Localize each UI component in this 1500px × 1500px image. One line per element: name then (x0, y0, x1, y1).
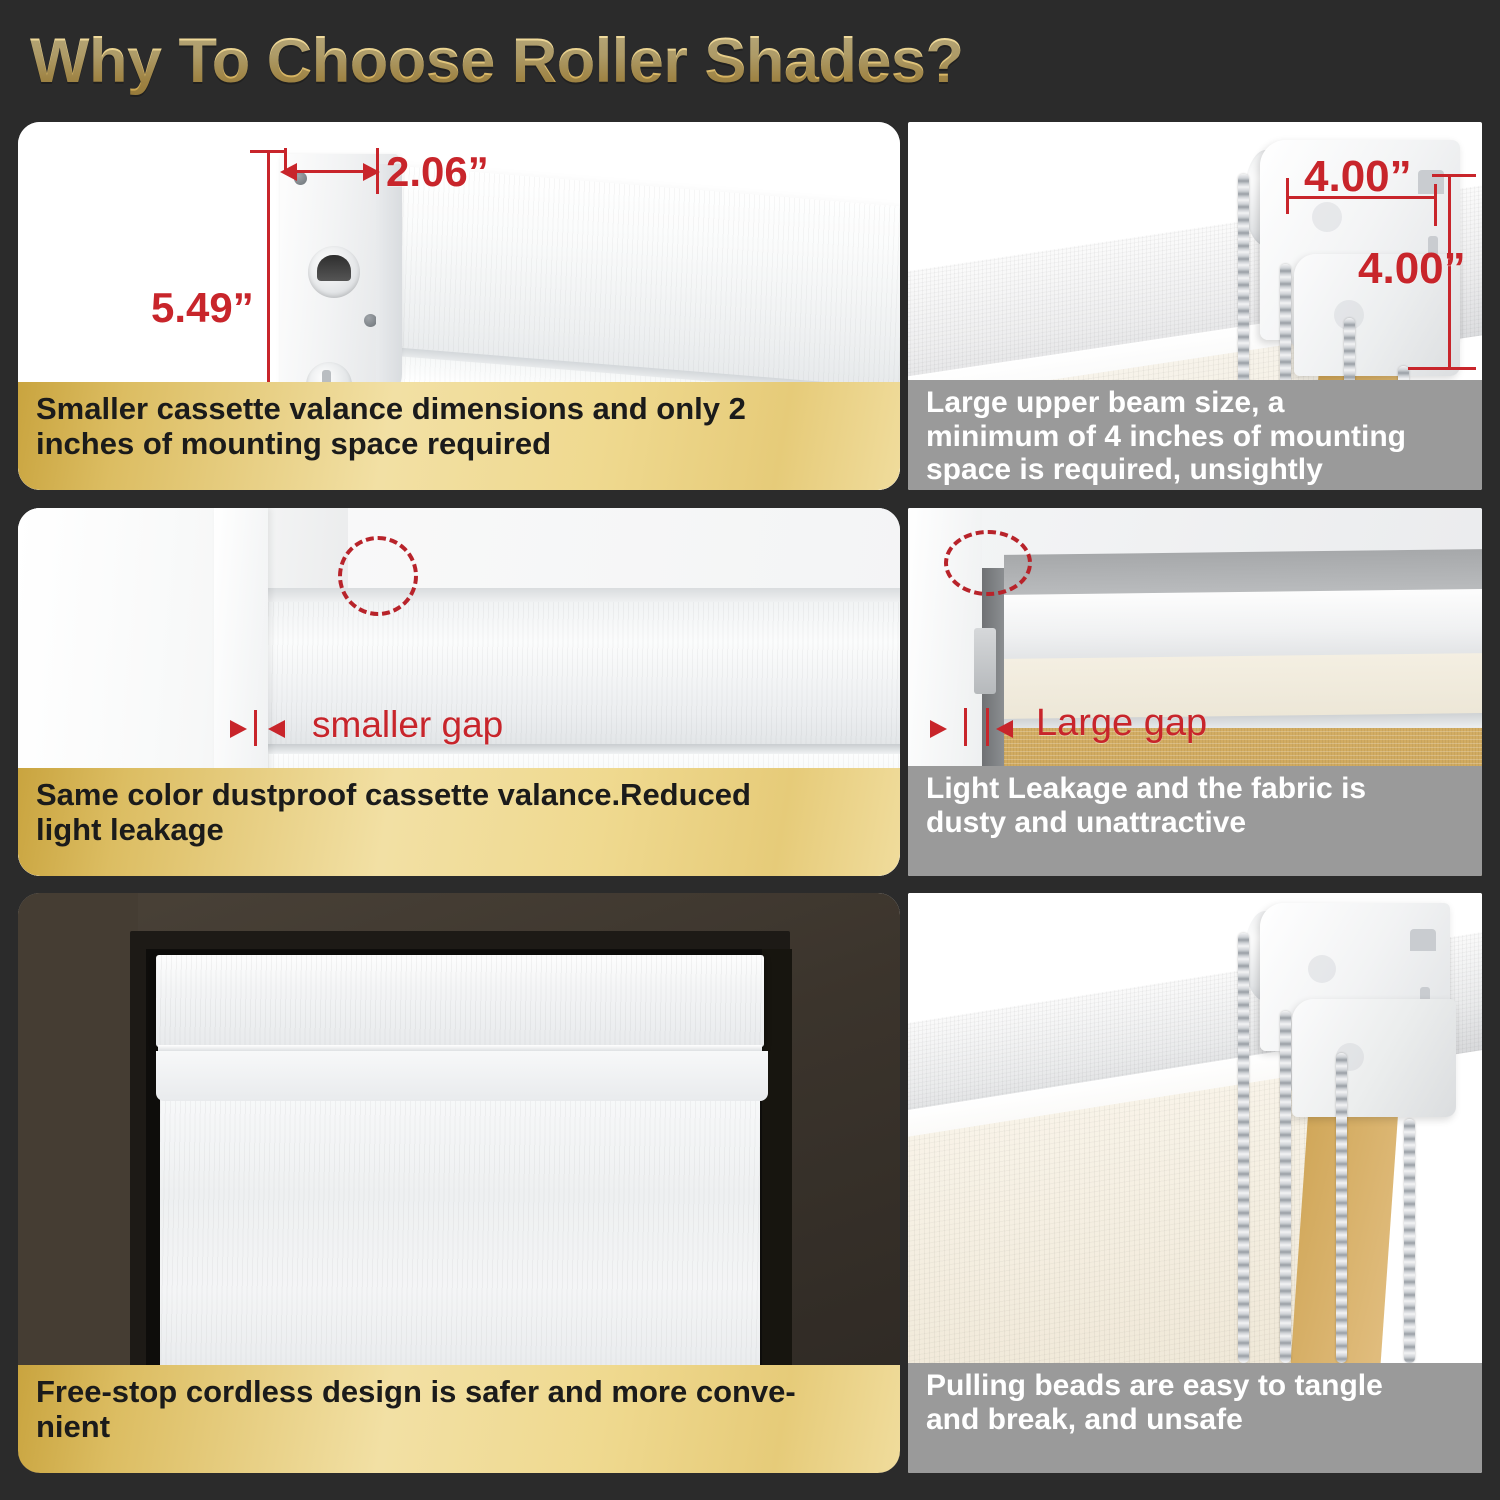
panel-top-left: 2.06” 5.49” Smaller cassette valance dim… (18, 122, 900, 490)
cassette-valance (156, 955, 764, 1047)
caption-line-2: dusty and unattractive (926, 806, 1366, 840)
caption-line-1: Same color dustproof cassette valance.Re… (36, 778, 751, 813)
caption-line-1: Free-stop cordless design is safer and m… (36, 1375, 796, 1410)
panel-bottom-right-caption: Pulling beads are easy to tangle and bre… (908, 1363, 1482, 1473)
panel-middle-left: smaller gap Same color dustproof cassett… (18, 508, 900, 876)
height-dim-tick-top (250, 150, 286, 153)
bracket-width-tick-left (1286, 178, 1289, 214)
bracket-height-tick-top (1432, 174, 1476, 177)
gap-marker-line-1 (964, 708, 967, 746)
width-dim-arrow-right (363, 163, 380, 181)
gap-arrow-left (268, 720, 285, 738)
roller-shade-fabric (160, 1099, 760, 1373)
caption-line-2: nient (36, 1410, 796, 1445)
bracket-height-label: 4.00” (1358, 244, 1466, 294)
gap-arrow-right (230, 720, 247, 738)
height-dimension-label: 5.49” (151, 284, 254, 332)
mounting-bracket-lower (1292, 999, 1456, 1117)
bracket-height-tick-bottom (1408, 367, 1476, 370)
highlight-circle-icon (338, 536, 418, 616)
panel-middle-right-caption: Light Leakage and the fabric is dusty an… (908, 766, 1482, 876)
end-cap-roller-socket (308, 246, 360, 298)
panel-middle-left-caption: Same color dustproof cassette valance.Re… (18, 768, 900, 876)
bead-chain-middle (1280, 1011, 1291, 1363)
bracket-width-label: 4.00” (1304, 152, 1412, 202)
highlight-circle-icon (944, 530, 1032, 596)
caption-line-2: inches of mounting space required (36, 427, 746, 462)
panel-bottom-right: Pulling beads are easy to tangle and bre… (908, 893, 1482, 1473)
valance-end-cap (280, 154, 398, 412)
panel-top-right-caption: Large upper beam size, a minimum of 4 in… (908, 380, 1482, 490)
panel-middle-right: Large gap Light Leakage and the fabric i… (908, 508, 1482, 876)
panel-bottom-left-caption: Free-stop cordless design is safer and m… (18, 1365, 900, 1473)
end-cap-screw-bottom (364, 314, 377, 327)
panel-bottom-left: Free-stop cordless design is safer and m… (18, 893, 900, 1473)
caption-line-1: Pulling beads are easy to tangle (926, 1369, 1383, 1403)
mounting-bracket (974, 628, 996, 694)
gap-arrow-left (996, 720, 1013, 738)
gap-arrow-right (930, 720, 947, 738)
width-dimension-label: 2.06” (386, 148, 489, 196)
smaller-gap-label: smaller gap (312, 704, 503, 746)
bracket-width-tick-right (1434, 184, 1437, 226)
cassette-lower-lip (156, 1051, 768, 1101)
bead-chain-left (1238, 933, 1249, 1363)
caption-line-1: Large upper beam size, a (926, 386, 1406, 420)
caption-line-3: space is required, unsightly (926, 453, 1406, 487)
page-title: Why To Choose Roller Shades? (30, 25, 963, 97)
large-gap-label: Large gap (1036, 702, 1207, 745)
panel-top-right: 4.00” 4.00” Large upper beam size, a min… (908, 122, 1482, 490)
bead-chain-inner (1336, 1053, 1347, 1363)
bead-chain-right (1404, 1119, 1415, 1363)
caption-line-1: Light Leakage and the fabric is (926, 772, 1366, 806)
page-header: Why To Choose Roller Shades? (0, 0, 1500, 122)
caption-line-2: and break, and unsafe (926, 1403, 1383, 1437)
gap-marker-line (254, 710, 257, 746)
caption-line-2: minimum of 4 inches of mounting (926, 420, 1406, 454)
panel-top-left-caption: Smaller cassette valance dimensions and … (18, 382, 900, 490)
caption-line-2: light leakage (36, 813, 751, 848)
gap-marker-line-2 (986, 708, 989, 746)
caption-line-1: Smaller cassette valance dimensions and … (36, 392, 746, 427)
width-dim-arrow-left (280, 163, 297, 181)
